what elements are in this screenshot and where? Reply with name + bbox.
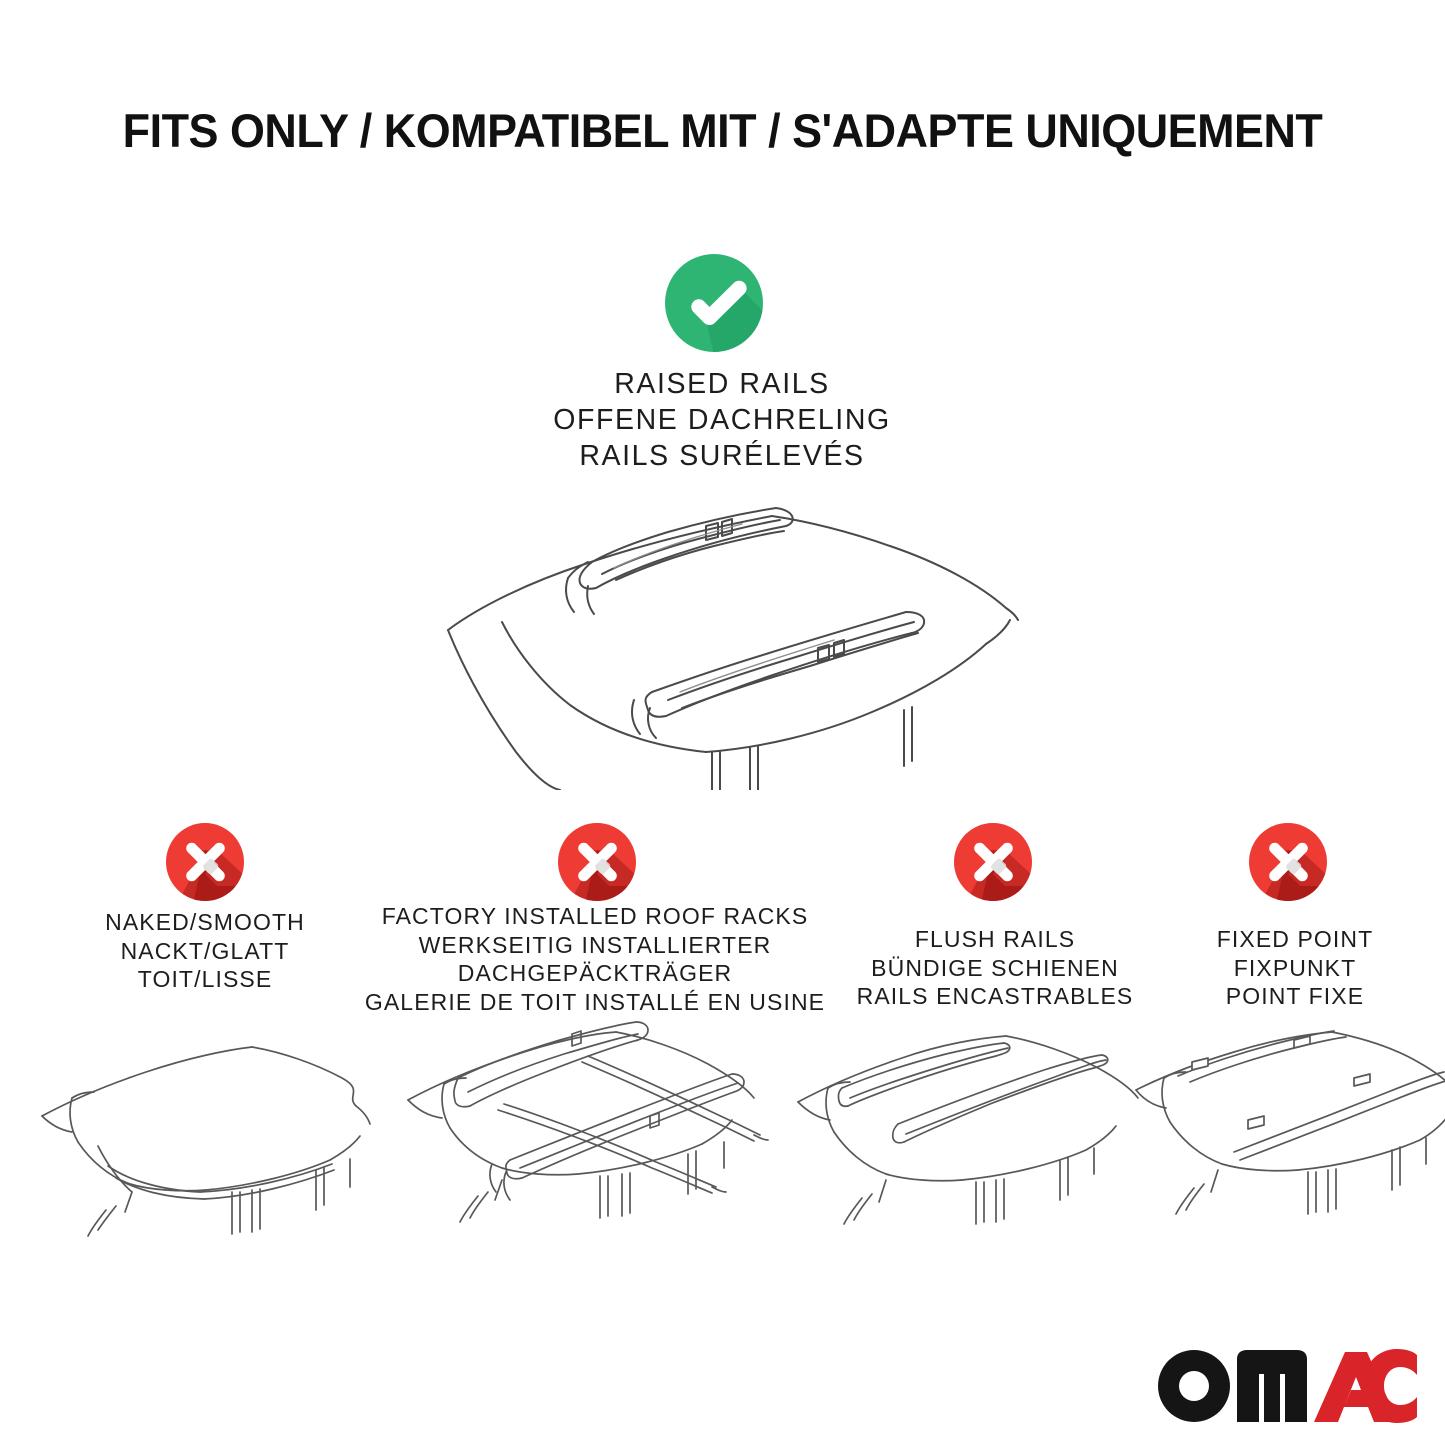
label-line: NACKT/GLATT [25, 937, 385, 966]
red-x-circle-icon [951, 820, 1035, 904]
label-line: FIXPUNKT [1160, 954, 1430, 983]
compatible-label: RAISED RAILS OFFENE DACHRELING RAILS SUR… [322, 366, 1122, 474]
label-line: DACHGEPÄCKTRÄGER [340, 959, 850, 988]
page-title: FITS ONLY / KOMPATIBEL MIT / S'ADAPTE UN… [33, 104, 1413, 158]
label-line: RAILS ENCASTRABLES [830, 982, 1160, 1011]
incompatible-label-fixed-point: FIXED POINT FIXPUNKT POINT FIXE [1160, 925, 1430, 1011]
label-line: NAKED/SMOOTH [25, 908, 385, 937]
red-x-circle-icon [555, 820, 639, 904]
illustration-car-roof-raised-rails [420, 490, 1030, 790]
label-line: TOIT/LISSE [25, 965, 385, 994]
label-line: FIXED POINT [1160, 925, 1430, 954]
compatible-label-line-3: RAILS SURÉLEVÉS [322, 438, 1122, 474]
illustration-car-roof-naked-smooth [20, 1020, 400, 1255]
compatible-label-line-1: RAISED RAILS [322, 366, 1122, 402]
fitment-info-graphic: FITS ONLY / KOMPATIBEL MIT / S'ADAPTE UN… [0, 0, 1445, 1445]
label-line: WERKSEITIG INSTALLIERTER [340, 931, 850, 960]
label-line: POINT FIXE [1160, 982, 1430, 1011]
red-x-circle-icon [1246, 820, 1330, 904]
incompatible-label-naked-smooth: NAKED/SMOOTH NACKT/GLATT TOIT/LISSE [25, 908, 385, 994]
incompatible-label-factory-racks: FACTORY INSTALLED ROOF RACKS WERKSEITIG … [340, 902, 850, 1016]
compatible-label-line-2: OFFENE DACHRELING [322, 402, 1122, 438]
label-line: BÜNDIGE SCHIENEN [830, 954, 1160, 983]
red-x-circle-icon [163, 820, 247, 904]
green-check-circle-icon [662, 251, 766, 355]
illustration-car-roof-flush-rails [780, 1020, 1165, 1255]
label-line: FACTORY INSTALLED ROOF RACKS [340, 902, 850, 931]
incompatible-label-flush-rails: FLUSH RAILS BÜNDIGE SCHIENEN RAILS ENCAS… [830, 925, 1160, 1011]
label-line: FLUSH RAILS [830, 925, 1160, 954]
illustration-car-roof-fixed-point [1130, 1020, 1445, 1255]
omac-logo [1155, 1347, 1417, 1425]
illustration-car-roof-factory-racks [400, 1010, 785, 1255]
